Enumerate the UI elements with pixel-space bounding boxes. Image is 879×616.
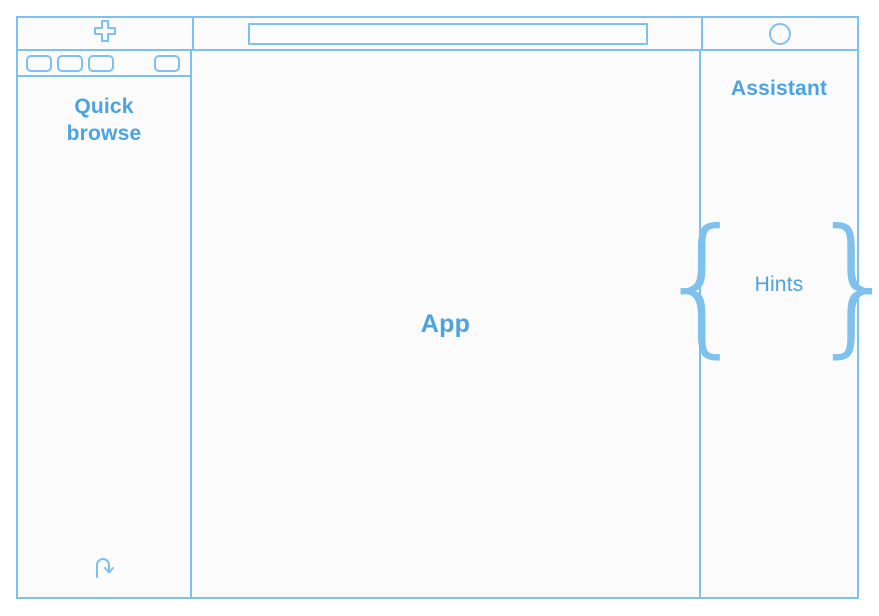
wireframe-root: Quick browse App (0, 0, 879, 616)
app-label: App (421, 310, 471, 339)
browser-body: Quick browse App (18, 51, 857, 597)
sidebar-footer (18, 552, 190, 587)
tab-chip-1[interactable] (26, 55, 52, 72)
hints-label: Hints (755, 273, 804, 297)
sidebar-tab-strip (18, 51, 190, 77)
brace-left-icon: { (655, 227, 750, 344)
circle-avatar-icon (769, 23, 791, 45)
assistant-panel: Assistant { Hints } (701, 51, 857, 597)
sidebar-title-line-2: browse (24, 120, 184, 147)
address-bar-input[interactable] (248, 23, 648, 45)
tab-chip-4[interactable] (154, 55, 180, 72)
tab-chip-3[interactable] (88, 55, 114, 72)
quick-browse-sidebar: Quick browse (18, 51, 192, 597)
address-bar-container (194, 18, 703, 49)
assistant-title: Assistant (731, 77, 827, 101)
app-canvas[interactable]: App (192, 51, 701, 597)
u-turn-arrow-icon[interactable] (89, 552, 119, 587)
tab-chip-2[interactable] (57, 55, 83, 72)
hints-block: { Hints } (701, 209, 857, 361)
browser-window-frame: Quick browse App (16, 16, 859, 599)
sidebar-title-line-1: Quick (24, 93, 184, 120)
sidebar-content: Quick browse (18, 77, 190, 597)
brace-right-icon: } (807, 227, 879, 344)
plus-icon (92, 18, 118, 49)
sidebar-title: Quick browse (18, 93, 190, 148)
browser-chrome-header (18, 18, 857, 51)
new-tab-button[interactable] (18, 18, 194, 49)
account-button[interactable] (703, 18, 857, 49)
